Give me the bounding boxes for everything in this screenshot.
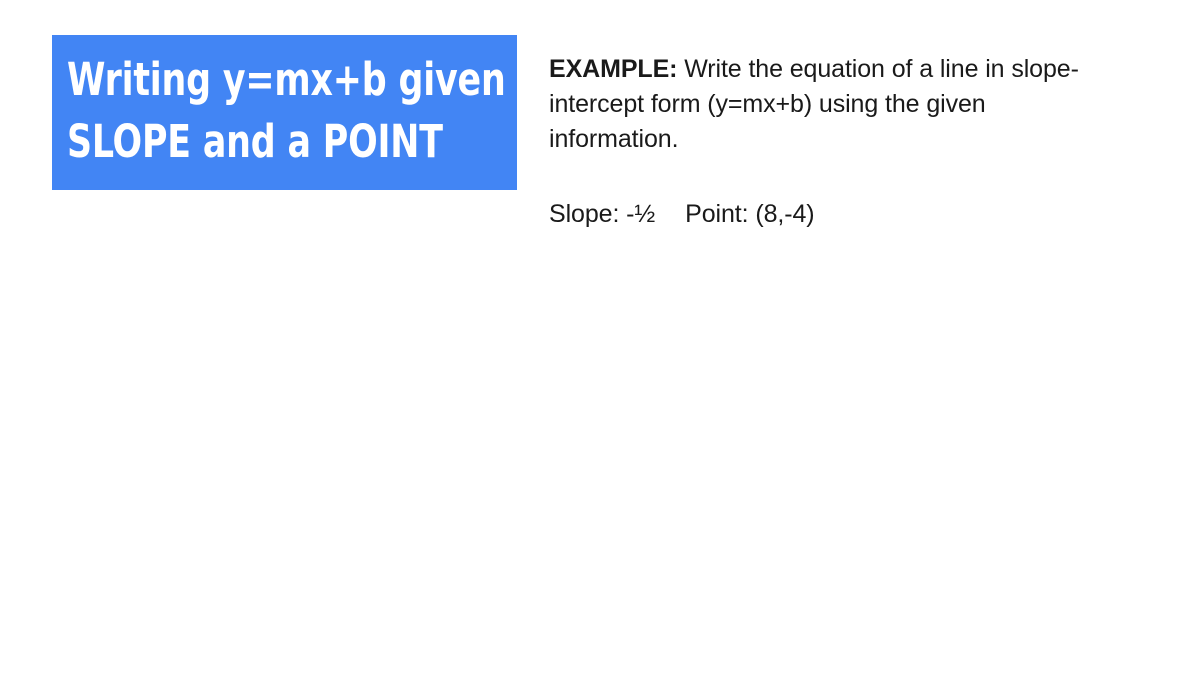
point-value: (8,-4): [755, 200, 814, 228]
slope-value: -½: [626, 200, 655, 228]
title-banner: Writing y=mx+b given a SLOPE and a POINT: [52, 35, 517, 190]
example-block: EXAMPLE: Write the equation of a line in…: [549, 52, 1119, 157]
point-label: Point:: [685, 200, 748, 228]
givens-line: Slope: -½Point: (8,-4): [549, 197, 1119, 232]
slope-label: Slope:: [549, 200, 619, 228]
title-line-1: Writing y=mx+b given a: [67, 49, 442, 111]
example-label: EXAMPLE:: [549, 55, 677, 83]
title-line-2: SLOPE and a POINT: [67, 111, 442, 173]
example-paragraph: EXAMPLE: Write the equation of a line in…: [549, 52, 1119, 157]
slide-canvas: Writing y=mx+b given a SLOPE and a POINT…: [0, 0, 1200, 674]
